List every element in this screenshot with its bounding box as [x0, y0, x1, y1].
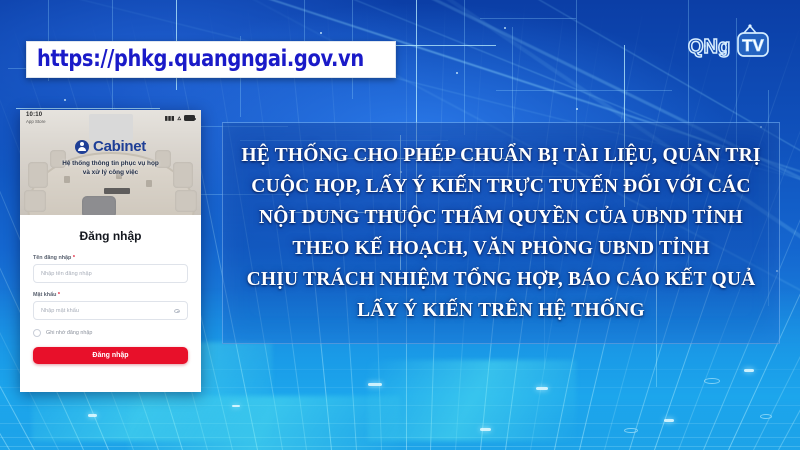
- svg-text:TV: TV: [742, 36, 764, 55]
- status-bar: 10:10 App Store ▮▮▮ ▵: [20, 110, 201, 126]
- login-title: Đăng nhập: [33, 229, 188, 243]
- svg-text:QNg: QNg: [688, 36, 730, 58]
- url-text: https://phkg.quangngai.gov.vn: [37, 46, 364, 72]
- username-label: Tên đăng nhập *: [33, 255, 188, 261]
- message-line: CHỊU TRÁCH NHIỆM TỔNG HỢP, BÁO CÁO KẾT Q…: [247, 264, 756, 295]
- login-submit-button[interactable]: Đăng nhập: [33, 347, 188, 364]
- remember-me-row[interactable]: Ghi nhớ đăng nhập: [33, 329, 188, 337]
- message-line: HỆ THỐNG CHO PHÉP CHUẨN BỊ TÀI LIỆU, QUẢ…: [241, 140, 760, 171]
- password-required-mark: *: [58, 292, 60, 298]
- message-line: LẤY Ý KIẾN TRÊN HỆ THỐNG: [357, 295, 645, 326]
- password-label-text: Mật khẩu: [33, 292, 56, 298]
- wifi-icon: ▵: [177, 114, 181, 122]
- message-panel-inner: HỆ THỐNG CHO PHÉP CHUẨN BỊ TÀI LIỆU, QUẢ…: [223, 123, 779, 343]
- signal-icon: ▮▮▮: [165, 115, 175, 122]
- chair: [175, 190, 197, 212]
- username-label-text: Tên đăng nhập: [33, 255, 71, 261]
- message-line: CUỘC HỌP, LẤY Ý KIẾN TRỰC TUYẾN ĐỐI VỚI …: [251, 171, 750, 202]
- remember-checkbox[interactable]: [33, 329, 41, 337]
- cabinet-logo-icon: [75, 140, 89, 154]
- message-panel: HỆ THỐNG CHO PHÉP CHUẨN BỊ TÀI LIỆU, QUẢ…: [222, 122, 780, 344]
- battery-icon: [184, 115, 195, 121]
- password-input[interactable]: Nhập mật khẩu: [33, 301, 188, 320]
- app-hero: 10:10 App Store ▮▮▮ ▵ Cabinet Hệ thống t…: [20, 110, 201, 215]
- eye-icon[interactable]: [174, 309, 180, 313]
- status-app-label: App Store: [26, 119, 46, 125]
- qngtv-logo-icon: TV QNg: [684, 24, 776, 64]
- qngtv-logo: TV QNg: [684, 24, 776, 64]
- message-line: NỘI DUNG THUỘC THẨM QUYỀN CỦA UBND TỈNH: [259, 202, 743, 233]
- slide-stage: https://phkg.quangngai.gov.vn TV QNg: [0, 0, 800, 450]
- cabinet-brand-name: Cabinet: [93, 138, 146, 155]
- cabinet-tagline-line1: Hệ thống thông tin phục vụ họp: [20, 159, 201, 168]
- login-form: Đăng nhập Tên đăng nhập * Nhập tên đăng …: [20, 215, 201, 374]
- status-time: 10:10: [26, 112, 46, 118]
- chair-foreground: [82, 196, 116, 215]
- remember-label: Ghi nhớ đăng nhập: [46, 330, 92, 336]
- phone-mockup: 10:10 App Store ▮▮▮ ▵ Cabinet Hệ thống t…: [20, 110, 201, 392]
- app-branding: Cabinet Hệ thống thông tin phục vụ họp v…: [20, 138, 201, 177]
- microphone: [146, 180, 152, 187]
- username-placeholder: Nhập tên đăng nhập: [41, 271, 92, 277]
- keyboard: [104, 188, 130, 194]
- cabinet-tagline: Hệ thống thông tin phục vụ họp và xử lý …: [20, 159, 201, 177]
- microphone: [64, 176, 70, 183]
- chair: [24, 190, 46, 212]
- username-input[interactable]: Nhập tên đăng nhập: [33, 264, 188, 283]
- url-banner[interactable]: https://phkg.quangngai.gov.vn: [26, 41, 396, 78]
- cabinet-tagline-line2: và xử lý công việc: [20, 168, 201, 177]
- message-line: THEO KẾ HOẠCH, VĂN PHÒNG UBND TỈNH: [292, 233, 709, 264]
- username-required-mark: *: [73, 255, 75, 261]
- password-label: Mật khẩu *: [33, 292, 188, 298]
- password-placeholder: Nhập mật khẩu: [41, 308, 79, 314]
